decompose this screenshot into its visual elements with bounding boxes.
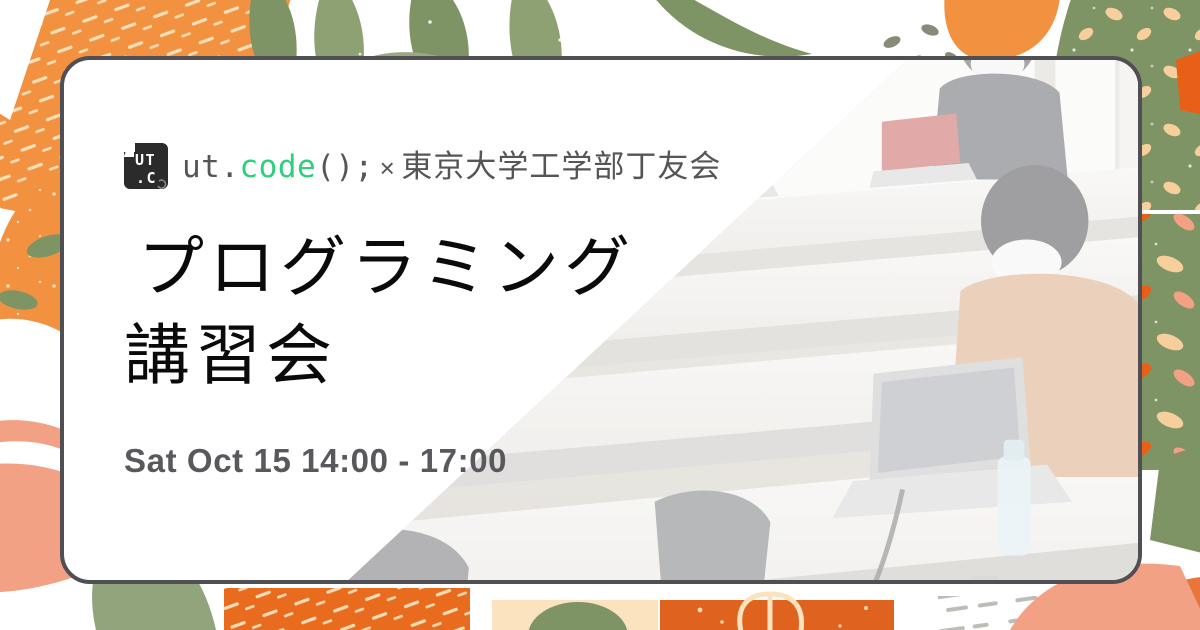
logo-bottom-text: .C [136,169,157,187]
card-content: UT .C ut.code();×東京大学工学部丁友会 プログラミング 講習会 … [124,142,824,480]
brand-title: ut.code();×東京大学工学部丁友会 [182,150,721,183]
event-poster: UT .C ut.code();×東京大学工学部丁友会 プログラミング 講習会 … [0,0,1200,630]
brand-name-highlight: code [240,149,317,185]
event-card: UT .C ut.code();×東京大学工学部丁友会 プログラミング 講習会 … [60,56,1142,584]
brand-name-suffix: (); [316,149,374,185]
event-title-line-2: 講習会 [124,312,824,400]
event-title-line-1: プログラミング [124,224,824,312]
event-title: プログラミング 講習会 [124,224,824,400]
logo-top-text: UT [135,151,156,169]
student-back-center [675,60,803,142]
partner-organization: 東京大学工学部丁友会 [401,149,721,184]
event-datetime: Sat Oct 15 14:00 - 17:00 [124,442,824,480]
ut-code-logo-icon: UT .C [124,143,168,189]
brand-name-prefix: ut. [182,149,240,185]
cross-icon: × [374,153,402,183]
brand-row: UT .C ut.code();×東京大学工学部丁友会 [124,142,824,190]
